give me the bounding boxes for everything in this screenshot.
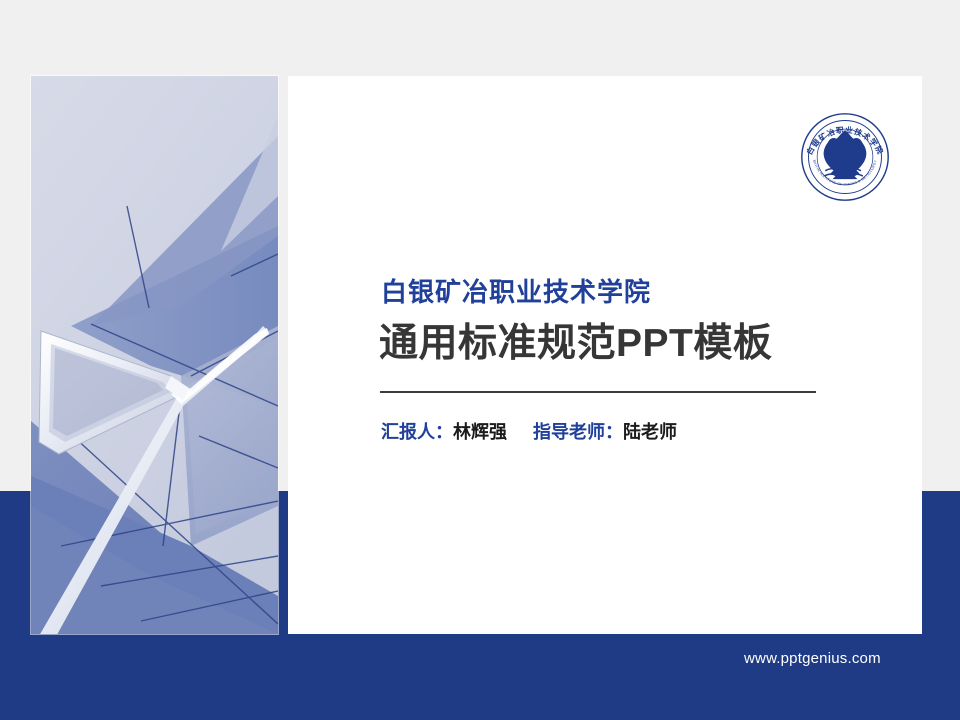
cover-photo-panel bbox=[31, 76, 278, 634]
organization-name: 白银矿冶职业技术学院 bbox=[381, 272, 651, 309]
advisor-label: 指导老师： bbox=[533, 422, 623, 442]
footer-website-url[interactable]: www.pptgenius.com bbox=[744, 650, 881, 667]
presenter-name: 林辉强 bbox=[453, 422, 507, 442]
presenter-label: 汇报人： bbox=[381, 422, 453, 442]
seal-logo-icon: 白银矿冶职业技术学院 BAIYIN INSTITUTE OF MINING & … bbox=[797, 109, 893, 205]
title-divider bbox=[380, 391, 816, 393]
byline: 汇报人：林辉强指导老师：陆老师 bbox=[381, 418, 677, 444]
advisor-name: 陆老师 bbox=[623, 422, 677, 442]
institution-logo: 白银矿冶职业技术学院 BAIYIN INSTITUTE OF MINING & … bbox=[797, 109, 893, 205]
page-title: 通用标准规范PPT模板 bbox=[379, 312, 772, 368]
architectural-photo bbox=[31, 76, 278, 634]
title-card: 白银矿冶职业技术学院 BAIYIN INSTITUTE OF MINING & … bbox=[288, 76, 922, 634]
presentation-slide: 白银矿冶职业技术学院 BAIYIN INSTITUTE OF MINING & … bbox=[0, 0, 960, 720]
